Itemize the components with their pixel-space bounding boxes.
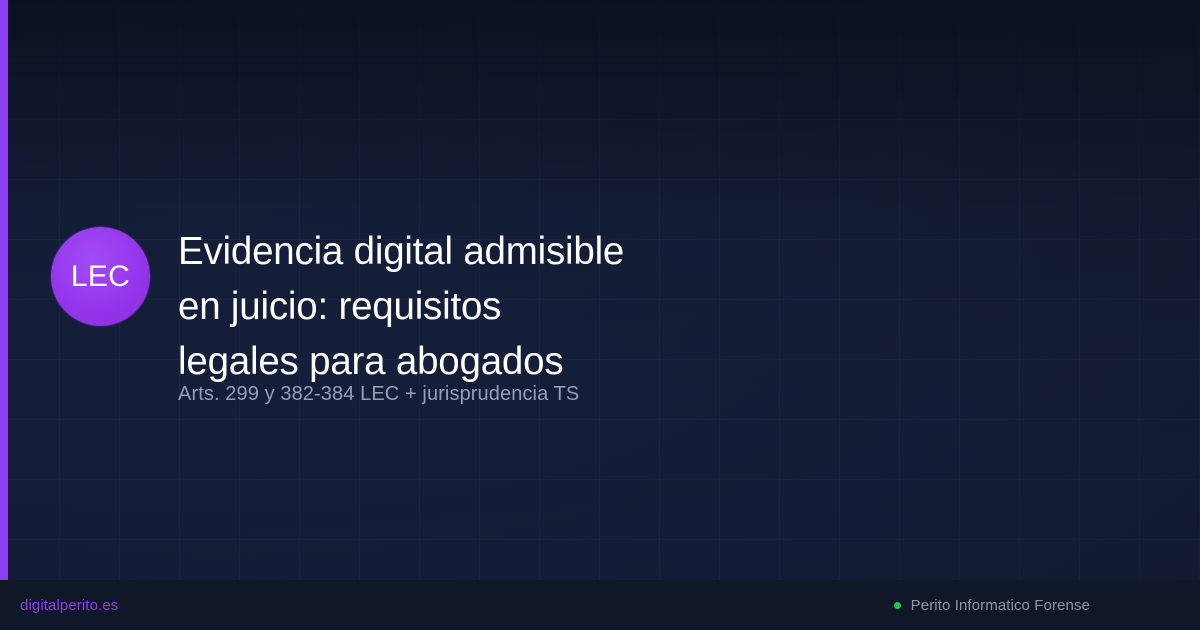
lec-badge-label: LEC — [71, 262, 130, 292]
lec-badge: LEC — [51, 227, 150, 326]
social-share-card: LEC Evidencia digital admisible en juici… — [0, 0, 1200, 630]
footer-site-link[interactable]: digitalperito.es — [20, 597, 118, 614]
page-title-line-2: en juicio: requisitos — [178, 279, 938, 334]
hero-content: LEC Evidencia digital admisible en juici… — [0, 0, 1200, 580]
footer-tagline-group: Perito Informatico Forense — [894, 597, 1090, 614]
page-title-line-1: Evidencia digital admisible — [178, 224, 938, 279]
footer-tagline: Perito Informatico Forense — [911, 597, 1090, 614]
status-dot-icon — [894, 602, 901, 609]
page-title: Evidencia digital admisible en juicio: r… — [178, 224, 938, 389]
page-subtitle: Arts. 299 y 382-384 LEC + jurisprudencia… — [178, 381, 579, 407]
footer-bar: digitalperito.es Perito Informatico Fore… — [0, 580, 1200, 630]
